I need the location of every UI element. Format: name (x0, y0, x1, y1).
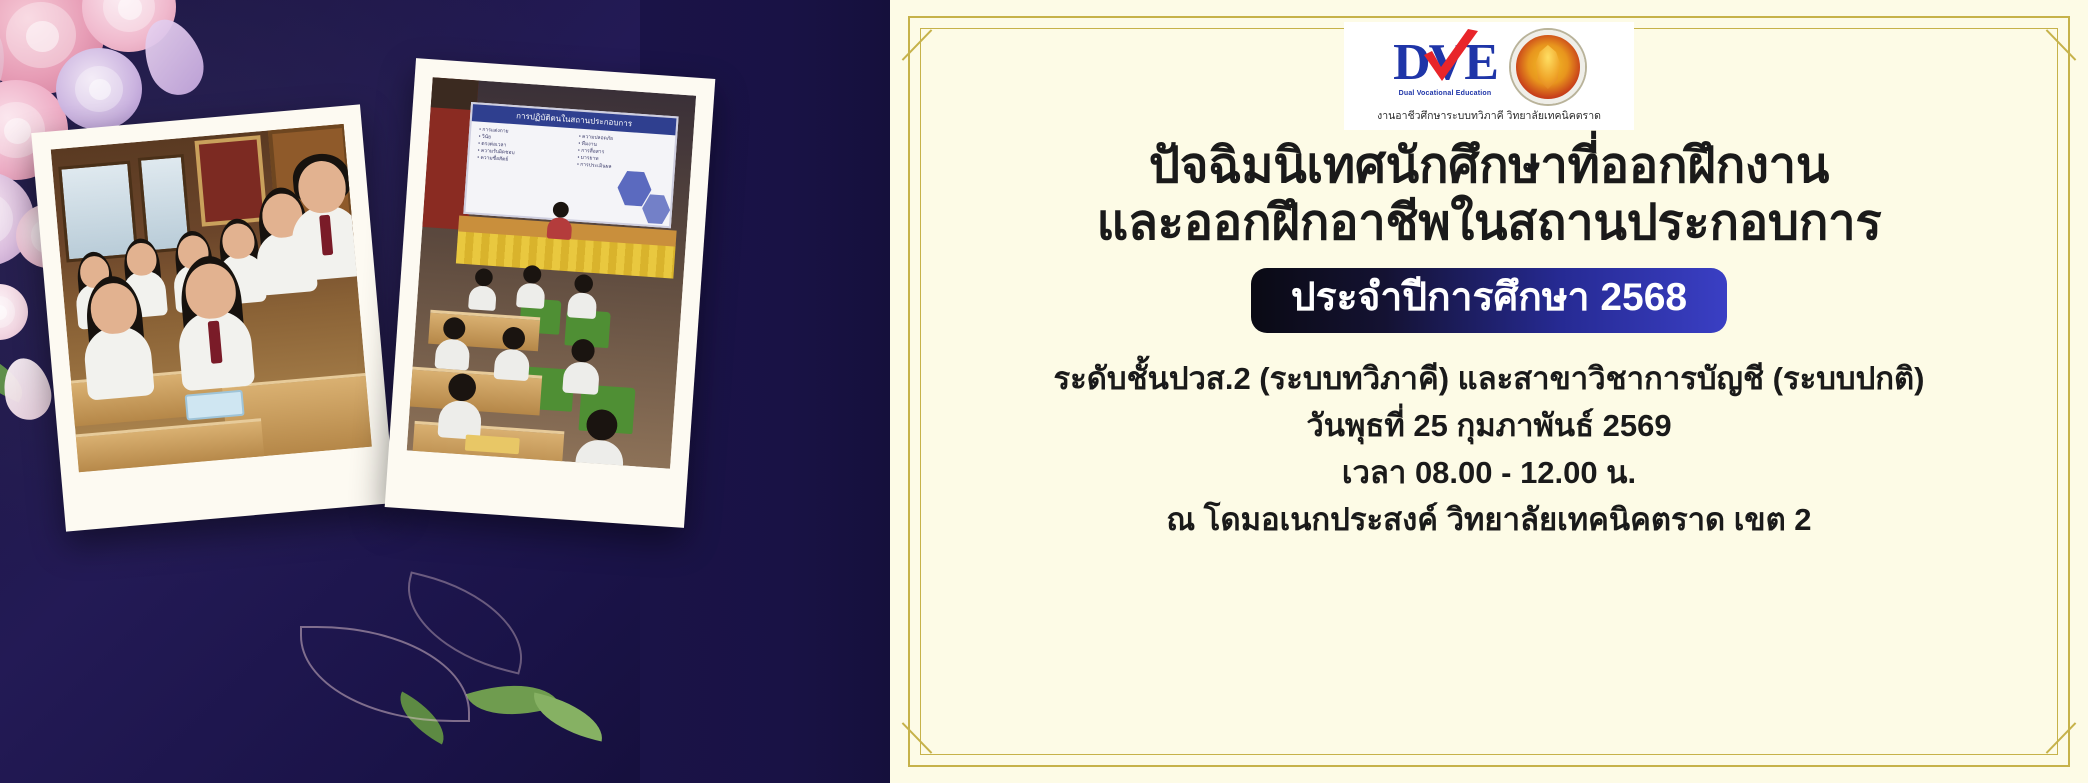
green-leaf-ornament (527, 692, 608, 741)
event-banner: การปฏิบัติตนในสถานประกอบการ • การแต่งกาย… (0, 0, 2088, 783)
event-details: ระดับชั้นปวส.2 (ระบบทวิภาคี) และสาขาวิชา… (1053, 355, 1924, 543)
thai-government-seal (1511, 30, 1585, 104)
left-photo-panel: การปฏิบัติตนในสถานประกอบการ • การแต่งกาย… (0, 0, 890, 783)
detail-venue: ณ โดมอเนกประสงค์ วิทยาลัยเทคนิคตราด เขต … (1053, 496, 1924, 543)
headline-line-1: ปัจฉิมนิเทศนักศึกษาที่ออกฝึกงาน (1097, 138, 1882, 195)
page-title: ปัจฉิมนิเทศนักศึกษาที่ออกฝึกงาน และออกฝึ… (1097, 138, 1882, 252)
logo-caption: งานอาชีวศึกษาระบบทวิภาคี วิทยาลัยเทคนิคต… (1354, 107, 1624, 124)
auditorium-presentation-photo: การปฏิบัติตนในสถานประกอบการ • การแต่งกาย… (385, 58, 716, 528)
red-checkmark-icon (1420, 29, 1482, 87)
detail-time: เวลา 08.00 - 12.00 น. (1053, 449, 1924, 496)
auditorium-photo-image: การปฏิบัติตนในสถานประกอบการ • การแต่งกาย… (407, 77, 696, 469)
right-content-panel: DVE Dual Vocational Education งานอาชีวศึ… (890, 0, 2088, 783)
classroom-students-photo (31, 104, 395, 531)
detail-date: วันพุธที่ 25 กุมภาพันธ์ 2569 (1053, 402, 1924, 449)
headline-line-2: และออกฝึกอาชีพในสถานประกอบการ (1097, 195, 1882, 252)
academic-year-badge: ประจำปีการศึกษา 2568 (1251, 268, 1727, 333)
dve-logo: DVE Dual Vocational Education (1393, 37, 1497, 97)
detail-level: ระดับชั้นปวส.2 (ระบบทวิภาคี) และสาขาวิชา… (1053, 355, 1924, 402)
classroom-photo-image (51, 124, 372, 472)
dve-tagline: Dual Vocational Education (1393, 90, 1497, 97)
logo-block: DVE Dual Vocational Education งานอาชีวศึ… (1344, 22, 1634, 130)
